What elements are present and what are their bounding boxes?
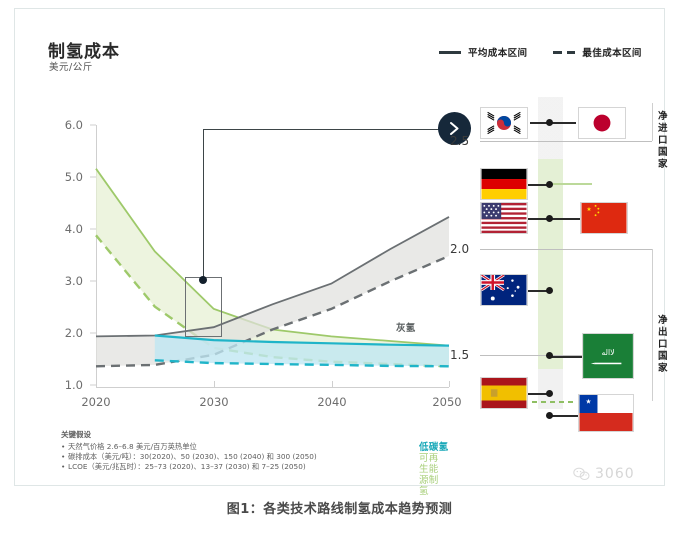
callout-highlight-box [185,277,222,337]
svg-text:لااله: لااله [602,348,615,357]
china-flag [580,202,628,234]
series-label-low-carbon-hydrogen: 低碳氢 [419,442,448,453]
saudi-arabia-flag-icon: لااله [583,334,633,378]
chile-flag-icon [579,395,633,431]
connector-saudi [550,356,582,358]
x-tick-2050 [449,381,450,387]
cost-trend-plot: 6.0 5.0 4.0 3.0 2.0 1.0 2020 2030 2040 2… [39,109,449,409]
spain-flag [480,377,528,409]
country-cost-panel: 2.5 2.0 1.5 净进口国家 净出口国家 [458,97,663,409]
germany-flag-icon [481,169,527,199]
exporters-group-label: 净出口国家 [658,315,668,375]
node-chile [546,412,553,419]
legend-label-best: 最佳成本区间 [582,45,641,59]
connector-germany-range [550,183,592,185]
figure-root: 制氢成本 美元/公斤 平均成本区间 最佳成本区间 6.0 5.0 4.0 3.0… [0,0,679,535]
legend-solid-line-icon [439,51,461,54]
panel-scale-1-5: 1.5 [450,348,469,362]
usa-flag-icon [481,203,527,233]
korea-flag-icon [481,108,527,138]
node-importer-korea-japan [546,119,553,126]
legend-dashed-line-icon [553,51,575,54]
spain-flag-icon [481,378,527,408]
connector-chile [550,415,578,417]
japan-flag [578,107,626,139]
wechat-glyph [573,467,590,481]
note-item-gas-price: 天然气价格 2.6–6.8 美元/百万英热单位 [61,442,361,452]
watermark-text: 3060 [595,466,635,482]
japan-flag-icon [579,108,625,138]
panel-scale-2-0: 2.0 [450,242,469,256]
series-band-group [39,109,449,409]
importers-group-label: 净进口国家 [658,111,668,171]
node-germany [546,181,553,188]
usa-flag [480,202,528,234]
chart-unit-subtitle: 美元/公斤 [49,59,93,73]
legend-label-average: 平均成本区间 [468,45,527,59]
chile-flag [578,394,634,432]
connector-korea-japan [530,122,576,124]
panel-scale-2-5: 2.5 [450,134,469,148]
key-assumptions-notes: 关键假设 天然气价格 2.6–6.8 美元/百万英热单位 碳排成本（美元/吨）：… [61,429,361,472]
series-label-grey-hydrogen: 灰氢 [396,323,416,334]
figure-caption: 图1：各类技术路线制氢成本趋势预测 [0,498,679,517]
cost-corridor-stripe [538,97,563,409]
note-item-lcoe: LCOE（美元/兆瓦时）：25–73 (2020)、13–37 (2030) 和… [61,462,361,472]
chart-card: 制氢成本 美元/公斤 平均成本区间 最佳成本区间 6.0 5.0 4.0 3.0… [14,8,665,486]
series-label-renewable-hydrogen: 可再生能源制氢 [419,453,447,497]
callout-stem-line [203,129,204,280]
node-usa-china [546,215,553,222]
australia-flag [480,274,528,306]
germany-flag [480,168,528,200]
chart-legend: 平均成本区间 最佳成本区间 [439,45,642,59]
saudi-arabia-flag: لااله [582,333,634,379]
wechat-icon [573,467,590,481]
node-spain [546,390,553,397]
node-australia [546,287,553,294]
exporter-bracket [652,249,653,401]
watermark: 3060 [573,466,635,482]
note-item-carbon-cost: 碳排成本（美元/吨）：30(2020)、50 (2030)、150 (2040)… [61,452,361,462]
notes-heading: 关键假设 [61,429,361,440]
panel-rule-2-5 [480,141,652,142]
node-saudi [546,352,553,359]
callout-horizontal-line [203,129,448,130]
importer-bracket [652,103,653,141]
australia-flag-icon [481,275,527,305]
korea-flag [480,107,528,139]
panel-rule-2-0 [480,249,652,250]
connector-usa-china [528,218,580,220]
china-flag-icon [581,203,627,233]
callout-anchor-dot [199,276,207,284]
